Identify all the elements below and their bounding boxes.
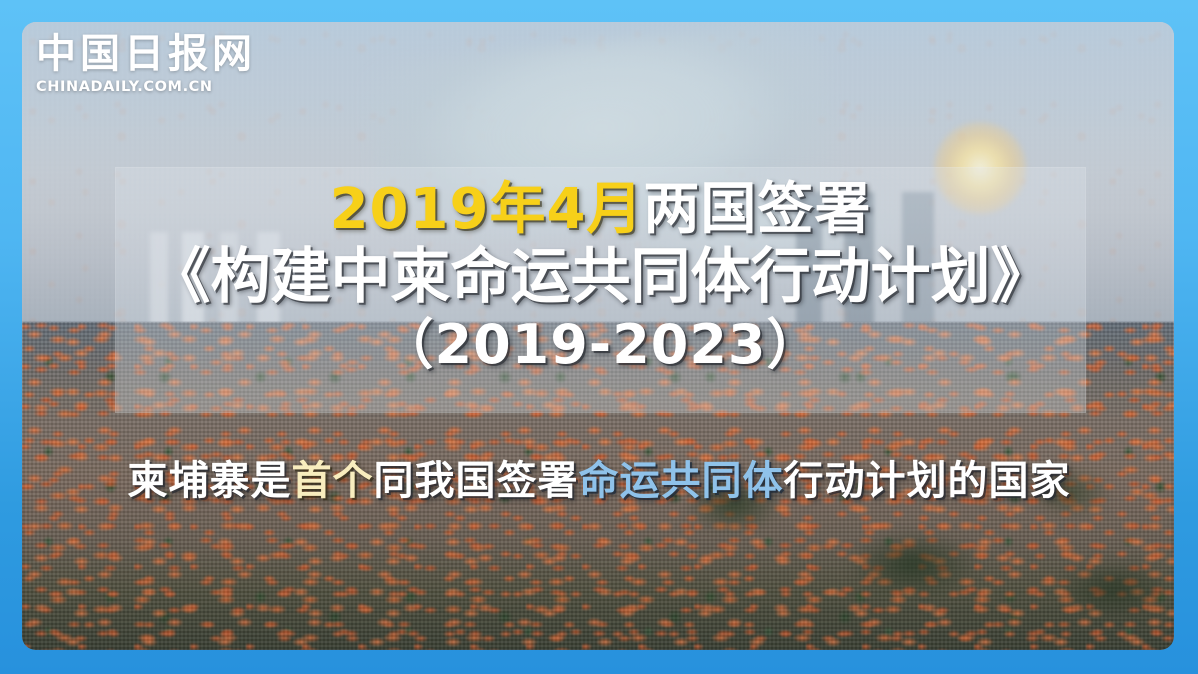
caption-part-3: 行动计划的国家 bbox=[784, 458, 1071, 504]
logo-english-text: CHINADAILY.COM.CN bbox=[36, 79, 236, 95]
chinadaily-logo: 中国日报网 CHINADAILY.COM.CN bbox=[36, 32, 236, 95]
caption-line: 柬埔寨是首个同我国签署命运共同体行动计划的国家 bbox=[0, 453, 1198, 509]
headline-line-1-rest: 两国签署 bbox=[643, 177, 871, 242]
caption-highlight-first: 首个 bbox=[292, 458, 374, 504]
headline-date: 2019年4月 bbox=[330, 177, 644, 242]
poster-root: 中国日报网 CHINADAILY.COM.CN 2019年4月两国签署 《构建中… bbox=[0, 0, 1198, 674]
caption-highlight-community: 命运共同体 bbox=[579, 458, 784, 504]
headline-line-3: （2019-2023） bbox=[115, 312, 1086, 378]
headline-line-2: 《构建中柬命运共同体行动计划》 bbox=[115, 242, 1086, 312]
caption-part-1: 柬埔寨是 bbox=[128, 458, 292, 504]
logo-chinese-text: 中国日报网 bbox=[36, 32, 236, 76]
headline-block: 2019年4月两国签署 《构建中柬命运共同体行动计划》 （2019-2023） bbox=[115, 178, 1086, 378]
headline-line-1: 2019年4月两国签署 bbox=[115, 178, 1086, 242]
caption-part-2: 同我国签署 bbox=[374, 458, 579, 504]
